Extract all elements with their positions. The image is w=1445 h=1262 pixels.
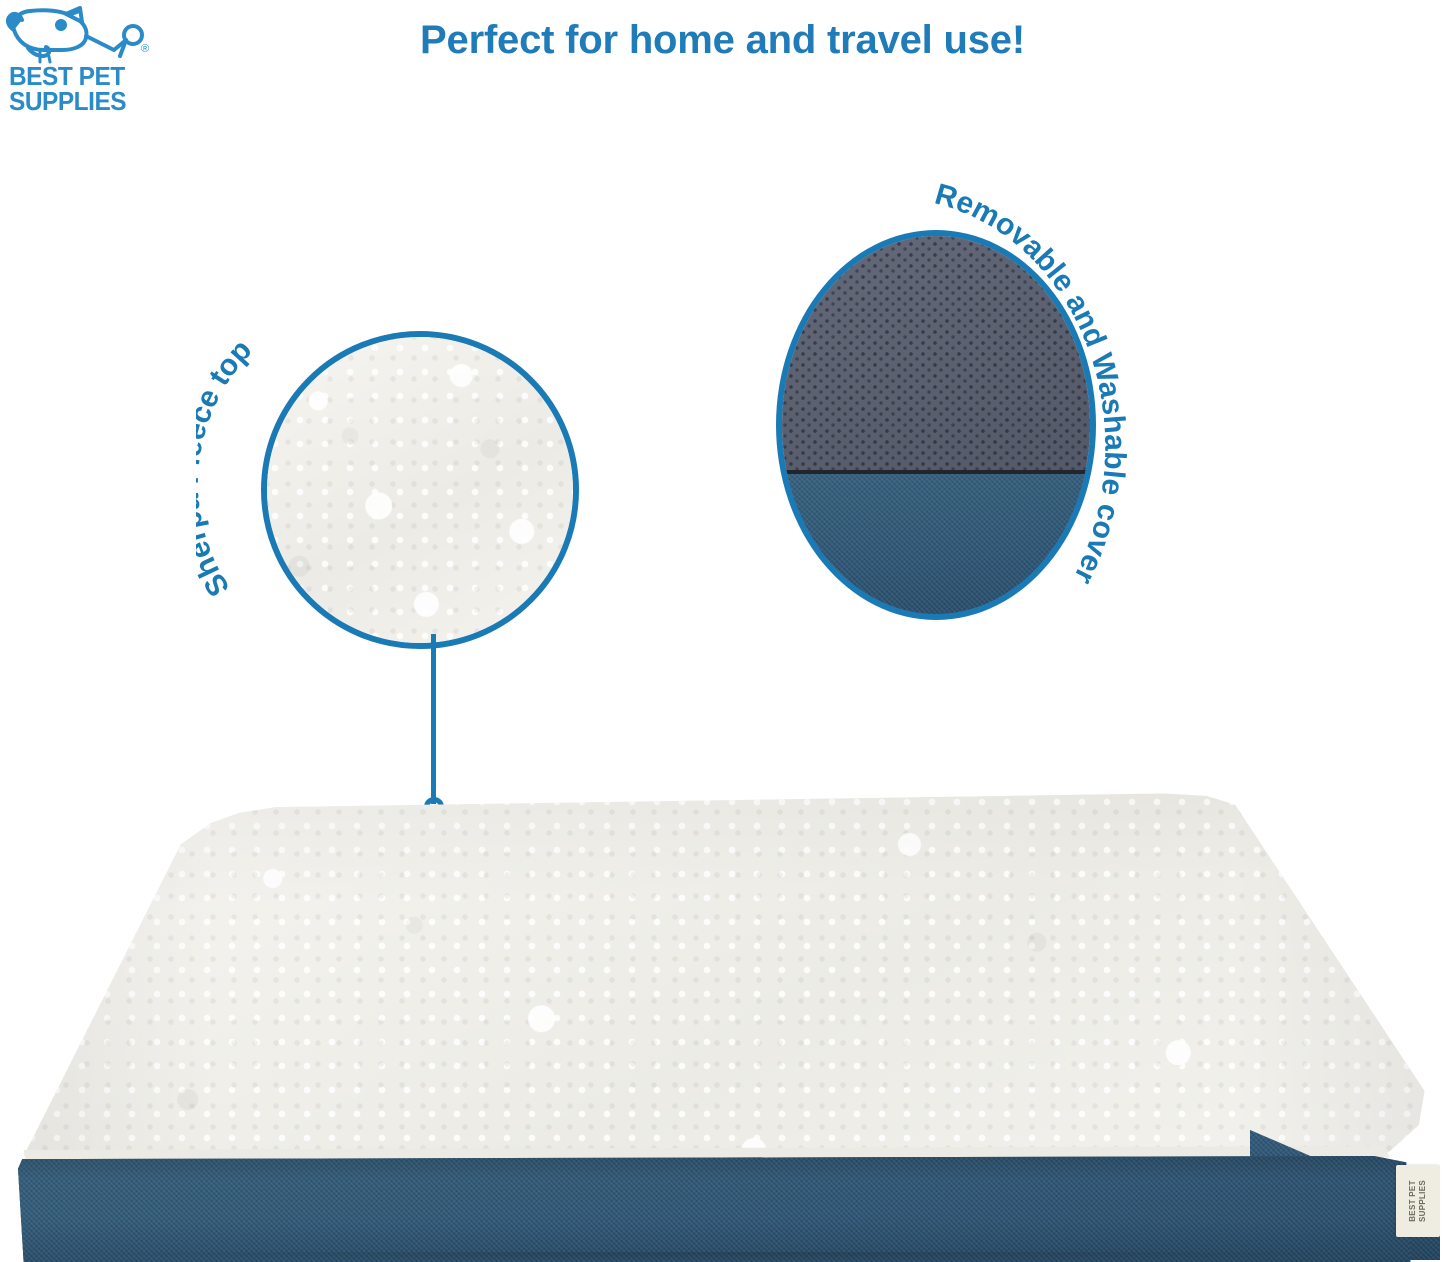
bed-side-panel-front [18,1156,1416,1262]
callout-sherpa-fleece-top [261,331,579,649]
sherpa-texture-swatch [261,331,579,649]
dog-bed-product: BEST PET SUPPLIES [0,760,1445,1262]
callout-removable-washable-cover [776,230,1096,620]
callout-circle-cover [776,230,1096,620]
bed-side-front-shading [18,1156,1416,1262]
callout-circle-sherpa [261,331,579,649]
callout-label-sherpa: Sherpa Fleece top [196,333,258,602]
cover-base-navy [776,474,1096,620]
bed-top-shading [18,785,1433,1210]
product-label-tag-text: BEST PET SUPPLIES [1408,1165,1428,1237]
product-infographic: ® BEST PET SUPPLIES Perfect for home and… [0,0,1445,1262]
brand-name-line2: SUPPLIES [9,89,150,114]
bed-drop-shadow [20,1252,1420,1262]
page-title: Perfect for home and travel use! [0,18,1445,63]
product-label-tag: BEST PET SUPPLIES [1396,1165,1440,1237]
brand-wordmark: BEST PET SUPPLIES [9,64,150,114]
bed-top-surface [18,785,1433,1210]
